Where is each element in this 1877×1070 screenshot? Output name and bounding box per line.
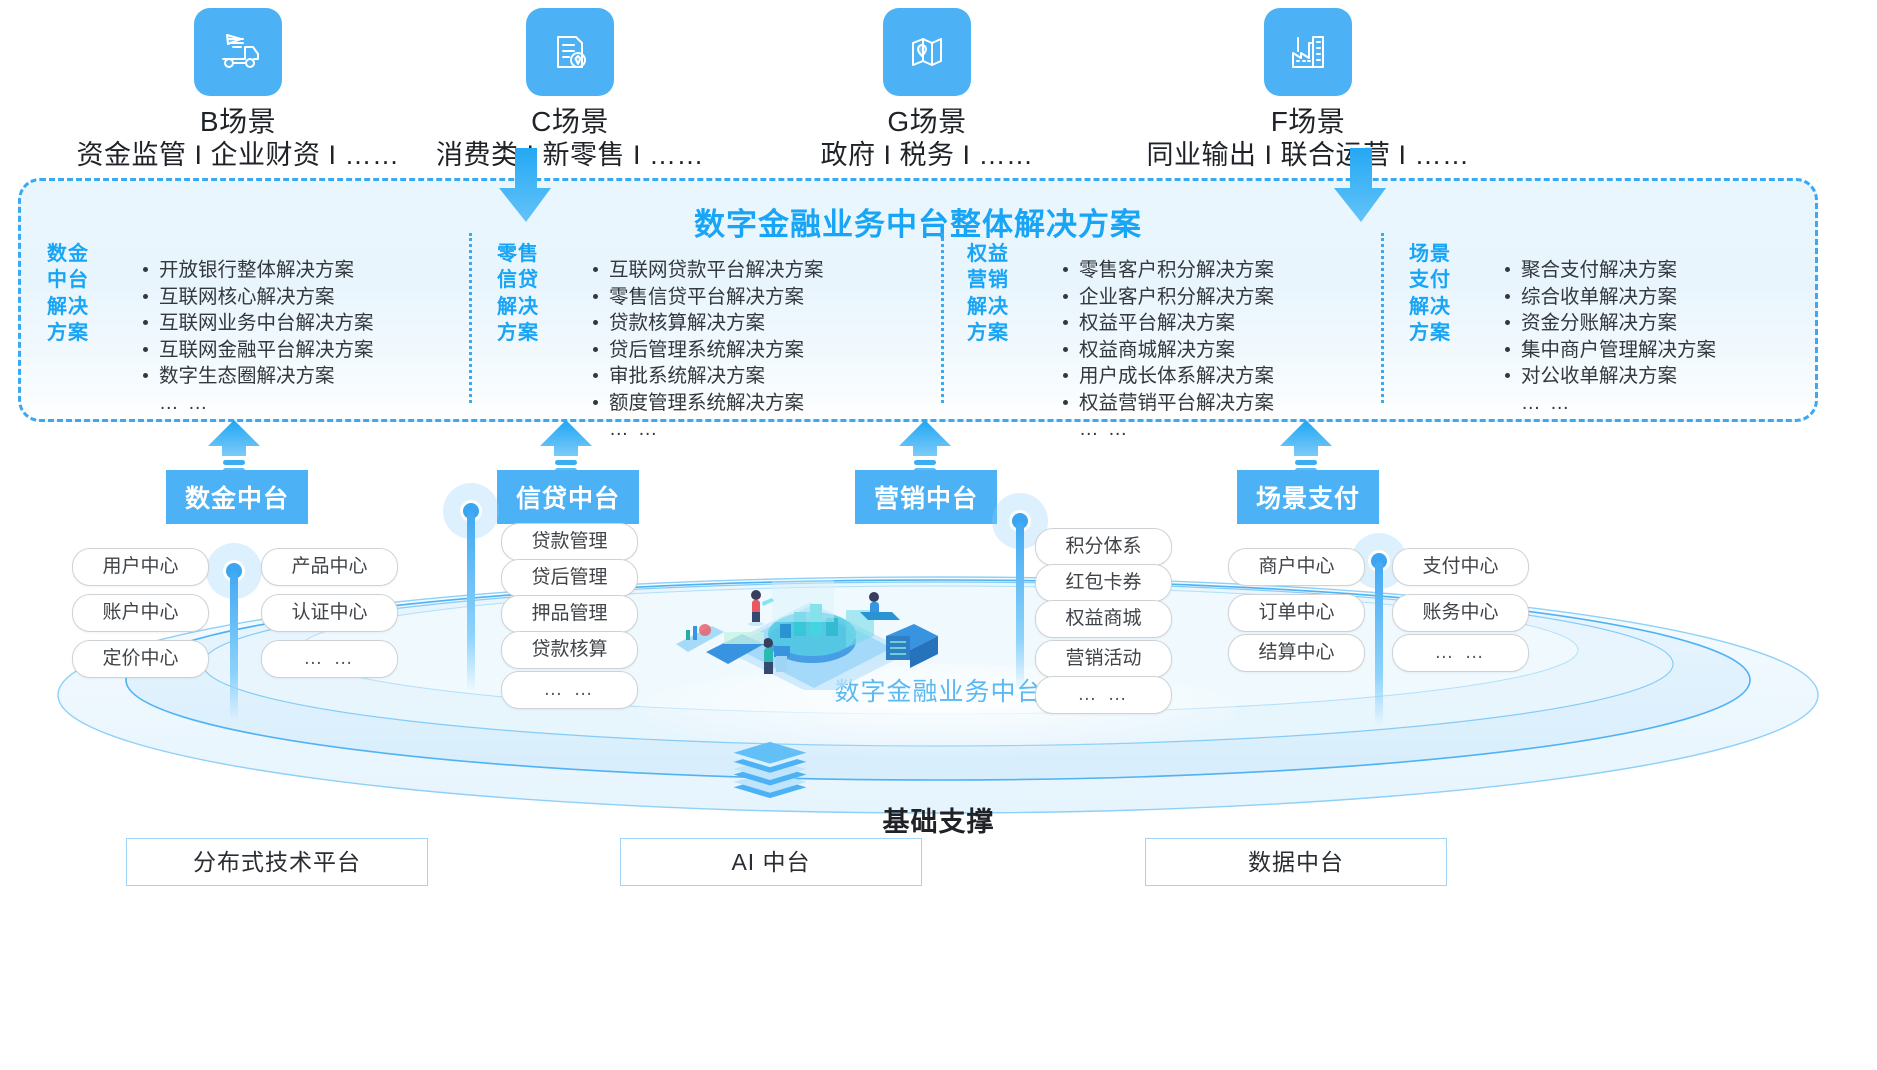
list-item: 零售信贷平台解决方案 <box>591 284 824 311</box>
capability-pill[interactable]: 结算中心 <box>1228 634 1365 672</box>
list-ellipsis: … … <box>1061 416 1274 443</box>
list-item: 企业客户积分解决方案 <box>1061 284 1274 311</box>
document-certificate-icon <box>526 8 614 96</box>
platform-label-credit[interactable]: 信贷中台 <box>497 470 639 524</box>
list-item: 权益商城解决方案 <box>1061 337 1274 364</box>
connector-digital-finance <box>206 543 262 723</box>
list-item: 数字生态圈解决方案 <box>141 363 374 390</box>
capability-pill-more[interactable]: … … <box>261 640 398 678</box>
down-arrow-c <box>498 148 552 222</box>
list-item: 用户成长体系解决方案 <box>1061 363 1274 390</box>
capability-pill[interactable]: 权益商城 <box>1035 600 1172 638</box>
list-item: 资金分账解决方案 <box>1503 310 1716 337</box>
scenario-b-subtitle: 资金监管 I 企业财资 I …… <box>68 139 408 173</box>
list-item: 审批系统解决方案 <box>591 363 824 390</box>
capability-pill[interactable]: 账户中心 <box>72 594 209 632</box>
solution-list-digital-finance: 开放银行整体解决方案 互联网核心解决方案 互联网业务中台解决方案 互联网金融平台… <box>101 257 374 416</box>
base-platform-ai[interactable]: AI 中台 <box>620 838 922 886</box>
capability-pill[interactable]: 商户中心 <box>1228 548 1365 586</box>
capability-pill[interactable]: 押品管理 <box>501 595 638 633</box>
solution-list-rights-marketing: 零售客户积分解决方案 企业客户积分解决方案 权益平台解决方案 权益商城解决方案 … <box>1021 257 1274 443</box>
base-support-title: 基础支撑 <box>0 800 1877 839</box>
list-item: 互联网核心解决方案 <box>141 284 374 311</box>
capability-pill[interactable]: 贷后管理 <box>501 559 638 597</box>
list-item: 权益平台解决方案 <box>1061 310 1274 337</box>
isometric-data-center-illustration <box>660 540 950 690</box>
scenario-b-title: B场景 <box>68 104 408 139</box>
capability-pill-more[interactable]: … … <box>1392 634 1529 672</box>
solution-column-rights-marketing: 权益 营销 解决 方案 零售客户积分解决方案 企业客户积分解决方案 权益平台解决… <box>961 241 1274 459</box>
capability-pill[interactable]: 产品中心 <box>261 548 398 586</box>
list-item: 互联网业务中台解决方案 <box>141 310 374 337</box>
solution-column-scenario-payment: 场景 支付 解决 方案 聚合支付解决方案 综合收单解决方案 资金分账解决方案 集… <box>1403 241 1716 432</box>
truck-shipping-icon <box>194 8 282 96</box>
capability-pill[interactable]: 定价中心 <box>72 640 209 678</box>
scenario-b: B场景 资金监管 I 企业财资 I …… <box>68 8 408 173</box>
column-divider-1 <box>469 233 472 403</box>
list-ellipsis: … … <box>1503 390 1716 417</box>
capability-pill[interactable]: 贷款核算 <box>501 631 638 669</box>
list-item: 集中商户管理解决方案 <box>1503 337 1716 364</box>
solution-list-scenario-payment: 聚合支付解决方案 综合收单解决方案 资金分账解决方案 集中商户管理解决方案 对公… <box>1463 257 1716 416</box>
scenario-f-title: F场景 <box>1138 104 1478 139</box>
scenario-f-subtitle: 同业输出 I 联合运营 I …… <box>1138 139 1478 173</box>
solution-column-digital-finance: 数金 中台 解决 方案 开放银行整体解决方案 互联网核心解决方案 互联网业务中台… <box>41 241 374 432</box>
capability-pill[interactable]: 用户中心 <box>72 548 209 586</box>
list-item: 权益营销平台解决方案 <box>1061 390 1274 417</box>
list-ellipsis: … … <box>591 416 824 443</box>
platform-label-digital-finance[interactable]: 数金中台 <box>166 470 308 524</box>
column-divider-2 <box>941 233 944 403</box>
capability-pill-more[interactable]: … … <box>1035 676 1172 714</box>
list-item: 互联网金融平台解决方案 <box>141 337 374 364</box>
capability-pill[interactable]: 红包卡券 <box>1035 564 1172 602</box>
map-location-icon <box>883 8 971 96</box>
base-platform-data[interactable]: 数据中台 <box>1145 838 1447 886</box>
capability-pill[interactable]: 账务中心 <box>1392 594 1529 632</box>
list-item: 零售客户积分解决方案 <box>1061 257 1274 284</box>
list-item: 对公收单解决方案 <box>1503 363 1716 390</box>
list-ellipsis: … … <box>141 390 374 417</box>
scenario-c: C场景 消费类 I 新零售 I …… <box>400 8 740 173</box>
capability-pill[interactable]: 贷款管理 <box>501 523 638 561</box>
diagram-canvas: 数字金融业务中台 B场景 资金监管 I 企业财资 I …… C场景 消费 <box>0 0 1877 1070</box>
layered-stack-icon <box>710 740 830 800</box>
scenario-g-subtitle: 政府 I 税务 I …… <box>757 139 1097 173</box>
list-item: 额度管理系统解决方案 <box>591 390 824 417</box>
capability-pill[interactable]: 营销活动 <box>1035 640 1172 678</box>
platform-label-marketing[interactable]: 营销中台 <box>855 470 997 524</box>
column-divider-3 <box>1381 233 1384 403</box>
scenario-g: G场景 政府 I 税务 I …… <box>757 8 1097 173</box>
column-label-digital-finance: 数金 中台 解决 方案 <box>41 241 95 347</box>
solution-panel: 数字金融业务中台整体解决方案 数金 中台 解决 方案 开放银行整体解决方案 互联… <box>18 178 1818 422</box>
list-item: 贷款核算解决方案 <box>591 310 824 337</box>
scenario-f: F场景 同业输出 I 联合运营 I …… <box>1138 8 1478 173</box>
panel-title: 数字金融业务中台整体解决方案 <box>21 199 1815 244</box>
column-label-rights-marketing: 权益 营销 解决 方案 <box>961 241 1015 347</box>
capability-pill[interactable]: 认证中心 <box>261 594 398 632</box>
list-item: 互联网贷款平台解决方案 <box>591 257 824 284</box>
scenario-g-title: G场景 <box>757 104 1097 139</box>
column-label-scenario-payment: 场景 支付 解决 方案 <box>1403 241 1457 347</box>
platform-label-payment[interactable]: 场景支付 <box>1237 470 1379 524</box>
column-label-retail-credit: 零售 信贷 解决 方案 <box>491 241 545 347</box>
solution-list-retail-credit: 互联网贷款平台解决方案 零售信贷平台解决方案 贷款核算解决方案 贷后管理系统解决… <box>551 257 824 443</box>
connector-credit <box>443 483 499 693</box>
capability-pill[interactable]: 积分体系 <box>1035 528 1172 566</box>
list-item: 开放银行整体解决方案 <box>141 257 374 284</box>
list-item: 贷后管理系统解决方案 <box>591 337 824 364</box>
base-platform-distributed[interactable]: 分布式技术平台 <box>126 838 428 886</box>
down-arrow-f <box>1333 148 1387 222</box>
capability-pill[interactable]: 订单中心 <box>1228 594 1365 632</box>
list-item: 综合收单解决方案 <box>1503 284 1716 311</box>
scenario-c-title: C场景 <box>400 104 740 139</box>
capability-pill-more[interactable]: … … <box>501 671 638 709</box>
capability-pill[interactable]: 支付中心 <box>1392 548 1529 586</box>
scenario-c-subtitle: 消费类 I 新零售 I …… <box>400 139 740 173</box>
factory-building-icon <box>1264 8 1352 96</box>
list-item: 聚合支付解决方案 <box>1503 257 1716 284</box>
